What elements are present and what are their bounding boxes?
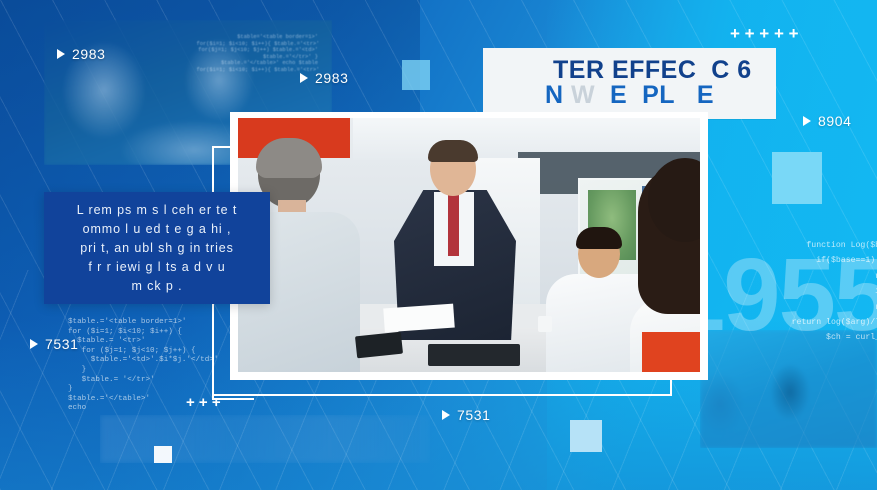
decorative-square-bottom-left <box>154 446 172 463</box>
code-snippet-right: function Log($ba if($base==1)|$ re if ro… <box>787 238 877 346</box>
decorative-square-bottom-middle <box>570 420 602 452</box>
person-hair <box>256 138 322 178</box>
play-triangle-icon <box>803 116 811 126</box>
headline-line-2-ghost-letter: W <box>571 81 595 109</box>
marker-8904-right: 8904 <box>803 113 852 129</box>
caption-box: L rem ps m s l ceh er te t ommo l u ed t… <box>44 192 270 304</box>
decorative-square-right-upper <box>772 152 822 204</box>
photo-pixels <box>100 415 430 463</box>
slide-canvas: $table='<table border=1>' for($i=1; $i<1… <box>0 0 877 490</box>
marker-7531-bottom: 7531 <box>442 407 491 423</box>
person-hair <box>428 140 478 162</box>
frame-outline-bottom <box>212 394 672 396</box>
marker-2983-top-middle: 2983 <box>300 70 349 86</box>
main-photo-frame <box>230 112 708 380</box>
marker-value: 2983 <box>315 70 349 86</box>
marker-7531-left: 7531 <box>30 336 79 352</box>
headline-line-2-part-b: E PL E <box>595 81 714 109</box>
background-text-band-bottom-left <box>100 415 430 463</box>
headline-card: TER EFFEC C 6 N W E PL E <box>483 48 776 119</box>
caption-text: L rem ps m s l ceh er te t ommo l u ed t… <box>67 201 247 296</box>
scene-papers <box>383 304 455 333</box>
play-triangle-icon <box>300 73 308 83</box>
decorative-square-top-middle <box>402 60 430 90</box>
office-meeting-scene <box>238 118 700 372</box>
scene-cup <box>538 316 552 332</box>
marker-value: 8904 <box>818 113 852 129</box>
scene-red-panel-right <box>642 332 700 372</box>
plus-row-bottom-left: + + + <box>186 394 221 411</box>
code-snippet-faint: $table='<table border=1>' for($i=1; $i<1… <box>190 34 318 74</box>
person-hair <box>576 227 622 249</box>
scene-keyboard <box>428 344 520 366</box>
play-triangle-icon <box>442 410 450 420</box>
marker-value: 7531 <box>45 336 79 352</box>
main-photo <box>238 118 700 372</box>
marker-value: 7531 <box>457 407 491 423</box>
person-tie <box>448 194 459 256</box>
marker-value: 2983 <box>72 46 106 62</box>
headline-line-2-part-a: N <box>545 81 571 109</box>
plus-row-top-right: + + + + + <box>730 24 799 44</box>
play-triangle-icon <box>30 339 38 349</box>
marker-2983-top-left: 2983 <box>57 46 106 62</box>
play-triangle-icon <box>57 49 65 59</box>
headline-line-2: N W E PL E <box>545 81 714 110</box>
